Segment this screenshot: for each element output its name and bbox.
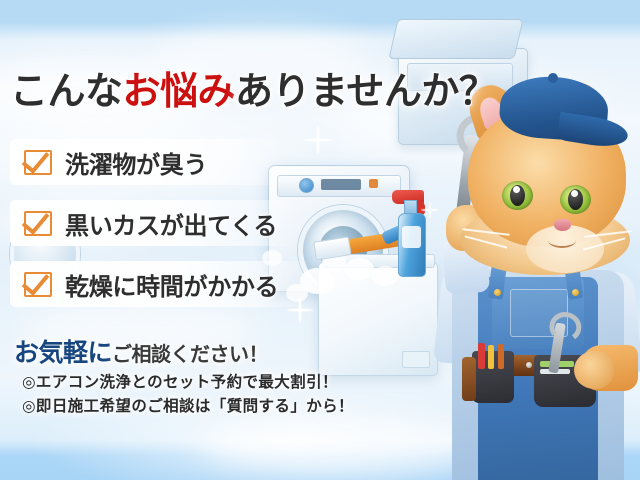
headline-part1: こんな [10, 71, 123, 113]
note-line-2: ◎即日施工希望のご相談は「質問する」から！ [22, 394, 354, 416]
cat-paw-icon [574, 351, 614, 389]
cta-rest: ご相談ください！ [112, 344, 268, 366]
checklist-item-1: 洗濯物が臭う [10, 139, 285, 185]
checklist-item-1-label: 洗濯物が臭う [65, 145, 207, 180]
cat-eye-icon [502, 181, 533, 210]
headline-part2: ありませんか？ [235, 71, 496, 113]
cta-strong: お気軽に [14, 339, 112, 367]
small-washer-icon [318, 262, 438, 376]
spray-bottle-icon [398, 213, 426, 277]
tool-pouch-icon [472, 351, 514, 403]
checklist-item-2-label: 黒いカスが出てくる [65, 206, 277, 241]
cta-line: お気軽にご相談ください！ [14, 333, 268, 369]
checkbox-checked-icon [24, 211, 52, 236]
checklist-item-3-label: 乾燥に時間がかかる [65, 267, 278, 302]
cat-nose-icon [554, 219, 571, 231]
cat-repairman-mascot [430, 55, 640, 480]
scrub-brush-icon [339, 229, 412, 255]
spray-bottle-head-icon [392, 190, 424, 204]
checklist-item-3: 乾燥に時間がかかる [10, 261, 315, 307]
advertisement-banner: こんなお悩みありませんか？ 洗濯物が臭う 黒いカスが出てくる 乾燥に時間がかかる… [0, 0, 640, 480]
checklist-item-2: 黒いカスが出てくる [10, 200, 300, 246]
cat-eye-icon [560, 185, 591, 214]
checkbox-checked-icon [24, 272, 52, 297]
checkbox-checked-icon [24, 150, 52, 175]
note-line-1: ◎エアコン洗浄とのセット予約で最大割引！ [22, 370, 338, 392]
brush-handle-icon [381, 218, 421, 245]
headline: こんなお悩みありませんか？ [10, 60, 496, 115]
headline-highlight: お悩み [123, 71, 236, 113]
